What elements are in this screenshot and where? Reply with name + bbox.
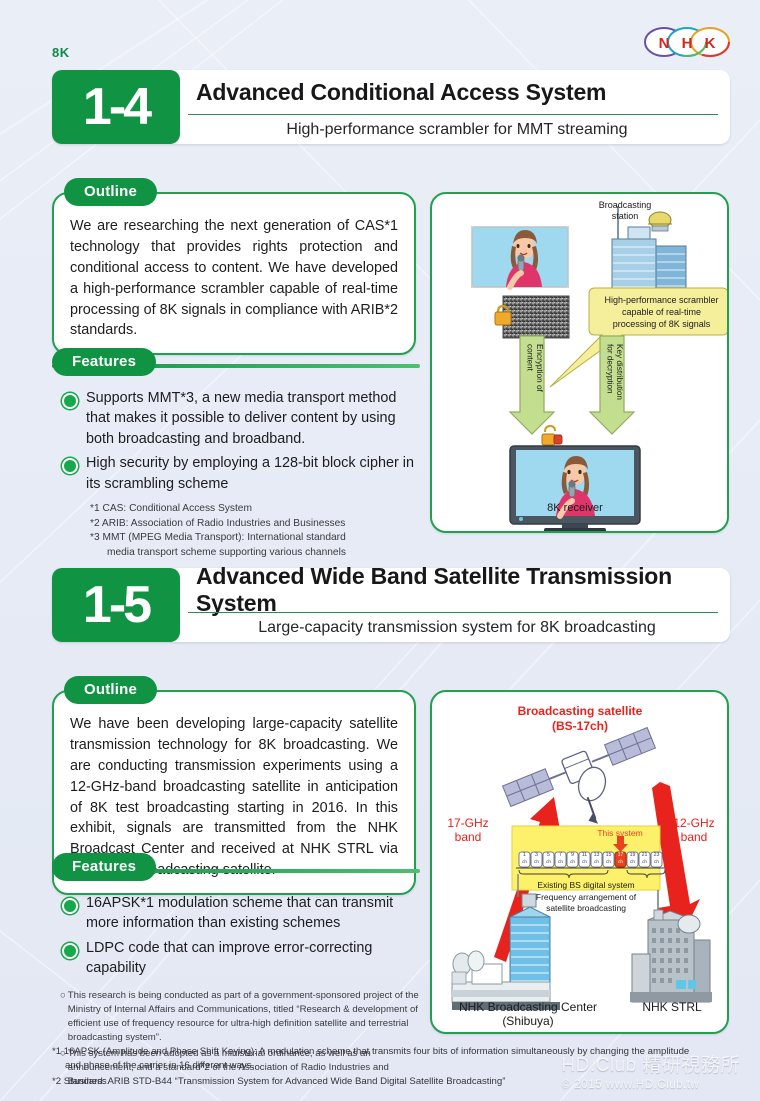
circle-note-text: This research is being conducted as part… (68, 989, 420, 1045)
channel-label: 3 (531, 852, 542, 858)
section-number-badge: 1-5 (52, 568, 180, 642)
outline-text: We are researching the next generation o… (54, 194, 414, 353)
feature-text: 16APSK*1 modulation scheme that can tran… (86, 893, 420, 934)
features-label: Features (52, 853, 156, 881)
channel-label: 5 (543, 852, 554, 858)
satellite-subtitle: (BS-17ch) (480, 719, 680, 733)
outline-label: Outline (64, 178, 157, 206)
receiver-tv-icon (510, 446, 640, 531)
uplink-band-label: 17-GHz band (438, 816, 498, 845)
channel-number-row: 1 3 5 7 9 11 13 15 17 19 21 23 ch ch ch … (519, 852, 665, 868)
channel-label: 15 (603, 852, 614, 858)
channel-unit: ch (531, 859, 542, 864)
lock-open-icon (542, 426, 562, 445)
bullet-icon (62, 458, 78, 474)
channel-label: 7 (555, 852, 566, 858)
scrambler-callout-text: High-performance scrambler capable of re… (595, 294, 728, 330)
svg-text:N: N (659, 35, 670, 52)
channel-unit: ch (603, 859, 614, 864)
section-subtitle: Large-capacity transmission system for 8… (196, 613, 718, 642)
channel-unit: ch (543, 859, 554, 864)
station-left-label: NHK Broadcasting Center (438, 1000, 618, 1014)
channel-label: 21 (639, 852, 650, 858)
section-title: Advanced Conditional Access System (196, 70, 718, 114)
note-line: *2 ARIB: Association of Radio Industries… (90, 517, 420, 531)
feature-text: LDPC code that can improve error-correct… (86, 938, 420, 979)
poster-page: 8K N H K 1-4 Advanced Conditional Access… (0, 0, 760, 1101)
channel-unit-highlight: ch (615, 859, 626, 864)
channel-unit: ch (519, 859, 530, 864)
channel-unit: ch (639, 859, 650, 864)
encrypted-content-block (503, 296, 569, 338)
channel-label: 11 (579, 852, 590, 858)
station-right-label: NHK STRL (622, 1000, 722, 1014)
channel-unit: ch (651, 859, 662, 864)
key-distribution-arrow-label: Key distribution for decryption (605, 344, 624, 428)
svg-text:K: K (705, 35, 716, 52)
feature-text: Supports MMT*3, a new media transport me… (86, 388, 420, 449)
downlink-band-label: 12-GHz band (664, 816, 724, 845)
satellite-title: Broadcasting satellite (480, 704, 680, 718)
feature-item: High security by employing a 128-bit blo… (60, 453, 420, 494)
feature-item: Supports MMT*3, a new media transport me… (60, 388, 420, 449)
channel-unit: ch (591, 859, 602, 864)
footnote-1-line1: *1 16APSK (Amplitude and Phase Shift Key… (52, 1045, 735, 1059)
section-number-badge: 1-4 (52, 70, 180, 144)
channel-unit: ch (627, 859, 638, 864)
channel-unit: ch (579, 859, 590, 864)
channel-label: 19 (627, 852, 638, 858)
footnote-2: *2 Standard: ARIB STD-B44 “Transmission … (52, 1075, 735, 1089)
existing-system-label: Existing BS digital system (512, 880, 660, 890)
footnote-1-line2: and phase of the carrier in 16 different… (52, 1059, 735, 1073)
source-content-screen (472, 227, 568, 287)
channel-label: 13 (591, 852, 602, 858)
satellite-diagram-card: Broadcasting satellite (BS-17ch) 17-GHz … (430, 690, 729, 1034)
channel-label: 9 (567, 852, 578, 858)
footnote-2-line1: *2 Standard: ARIB STD-B44 “Transmission … (52, 1075, 735, 1089)
footnotes-block: *1 16APSK (Amplitude and Phase Shift Key… (52, 1045, 735, 1090)
channel-label: 23 (651, 852, 662, 858)
section-subtitle: High-performance scrambler for MMT strea… (196, 115, 718, 144)
receiver-label: 8K receiver (525, 502, 625, 515)
svg-text:H: H (682, 35, 693, 52)
channel-label-highlight: 17 (615, 852, 626, 858)
nhk-logo: N H K (642, 25, 732, 59)
satellite-icon (502, 726, 656, 809)
broadcasting-station-label: Broadcasting station (580, 200, 670, 222)
note-line: *3 MMT (MPEG Media Transport): Internati… (90, 531, 420, 560)
frequency-caption: Frequency arrangement of satellite broad… (512, 892, 660, 914)
footnote-1: *1 16APSK (Amplitude and Phase Shift Key… (52, 1045, 735, 1074)
circle-marker: ○ (60, 989, 66, 1045)
feature-notes: *1 CAS: Conditional Access System *2 ARI… (60, 502, 420, 560)
note-line: *1 CAS: Conditional Access System (90, 502, 420, 516)
circle-note: ○ This research is being conducted as pa… (60, 989, 420, 1045)
channel-unit: ch (567, 859, 578, 864)
feature-item: LDPC code that can improve error-correct… (60, 938, 420, 979)
bullet-icon (62, 393, 78, 409)
section-header-1-5: 1-5 Advanced Wide Band Satellite Transmi… (52, 568, 730, 642)
section-title: Advanced Wide Band Satellite Transmissio… (196, 568, 718, 612)
cas-diagram-svg (432, 194, 727, 531)
bullet-icon (62, 898, 78, 914)
bullet-icon (62, 943, 78, 959)
features-label: Features (52, 348, 156, 376)
outline-card-1-4: Outline We are researching the next gene… (52, 192, 416, 355)
page-tag-8k: 8K (52, 45, 70, 60)
cas-diagram-card: Broadcasting station High-performance sc… (430, 192, 729, 533)
feature-item: 16APSK*1 modulation scheme that can tran… (60, 893, 420, 934)
feature-text: High security by employing a 128-bit blo… (86, 453, 420, 494)
channel-unit: ch (555, 859, 566, 864)
this-system-label: This system (580, 828, 660, 838)
section-header-1-4: 1-4 Advanced Conditional Access System H… (52, 70, 730, 144)
encryption-arrow-label: Encryption of content (525, 344, 544, 428)
outline-label: Outline (64, 676, 157, 704)
station-left-sublabel: (Shibuya) (438, 1014, 618, 1028)
channel-label: 1 (519, 852, 530, 858)
